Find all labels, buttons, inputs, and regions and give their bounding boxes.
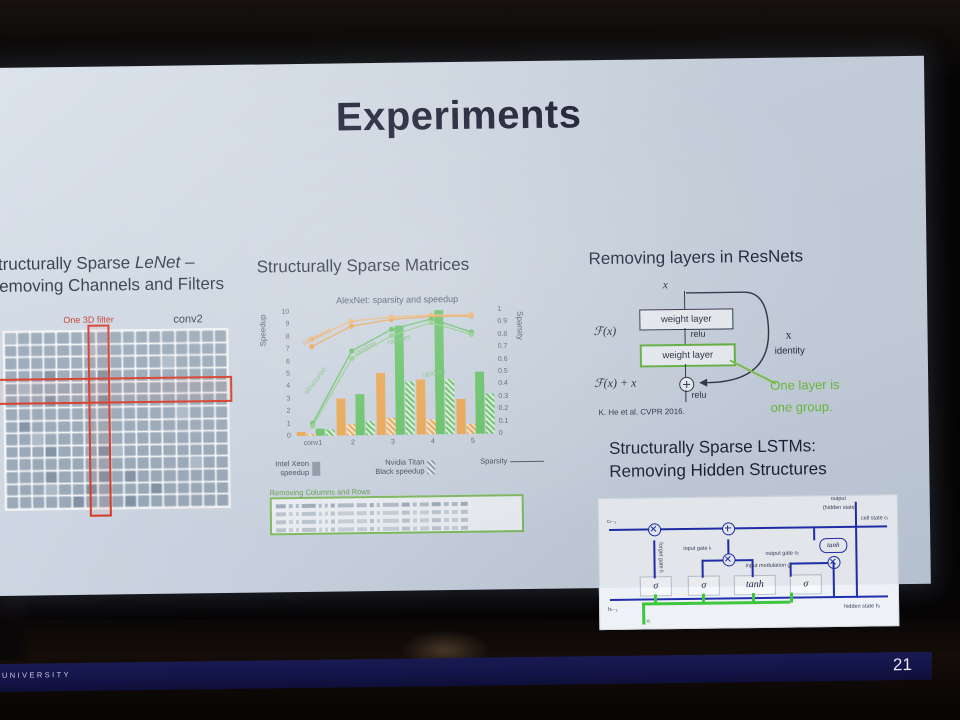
lstm-wire-input-up (701, 560, 703, 578)
filter-cell (138, 483, 150, 495)
resnet-annotation-line1: One layer is (770, 377, 840, 393)
table-cell (452, 501, 458, 505)
legend-label: Nvidia TitanBlack speedup (375, 458, 424, 476)
filter-cell (216, 444, 228, 456)
table-cell (296, 504, 299, 508)
chart-plot-area: structuredrandomstructuredrandomrandom (291, 309, 493, 436)
filter-cell (177, 482, 189, 494)
filter-cell (188, 330, 200, 342)
filter-cell (163, 444, 175, 456)
filter-cell (190, 482, 202, 494)
table-cell (420, 502, 429, 506)
table-cell (461, 509, 468, 513)
filter-cell (216, 431, 228, 443)
table-cell (338, 527, 354, 531)
filter-cell (6, 421, 18, 433)
filter-cell (58, 446, 70, 458)
filter-cell (215, 406, 227, 418)
filter-cell (125, 495, 137, 507)
filter-cell (111, 445, 123, 457)
filter-cell (33, 497, 45, 509)
y2-tick: 0.3 (498, 393, 508, 400)
table-cell (296, 520, 299, 524)
filter-cell (72, 496, 84, 508)
table-cell (377, 510, 380, 514)
filter-cell (137, 432, 149, 444)
sparse-matrix-table (270, 494, 524, 535)
table-cell (331, 519, 335, 523)
y2-tick: 0.6 (498, 355, 508, 362)
filter-cell (137, 470, 149, 482)
y-tick: 10 (281, 309, 289, 316)
lstm-wire-forget-up (653, 540, 656, 578)
table-cell (370, 503, 374, 507)
lstm-input-x-label: xₜ (646, 618, 650, 624)
filter-cell (176, 444, 188, 456)
lstm-heading: Structurally Sparse LSTMs: Removing Hidd… (609, 434, 910, 484)
filter-cell (6, 459, 18, 471)
filter-cell (162, 331, 174, 343)
filter-cell (72, 458, 84, 470)
filter-cell (177, 457, 189, 469)
filter-cell (32, 446, 44, 458)
resnet-arrow-relu2 (685, 390, 687, 402)
filter-cell (44, 345, 56, 357)
filter-cell (164, 495, 176, 507)
lstm-green-highlight-rail (642, 601, 790, 606)
filter-cell (203, 494, 215, 506)
filter-cell (203, 457, 215, 469)
filter-cell (190, 469, 202, 481)
chart-y2-axis-ticks: 00.10.20.30.40.50.60.70.80.91 (497, 309, 523, 435)
filter-cell (32, 408, 44, 420)
resnet-citation: K. He et al. CVPR 2016. (599, 407, 685, 417)
filter-cell (124, 458, 136, 470)
filter-cell (45, 459, 57, 471)
table-cell (296, 528, 299, 532)
table-cell (325, 527, 328, 531)
y2-tick: 0.1 (499, 417, 509, 424)
filter-cell (124, 445, 136, 457)
table-cell (420, 526, 429, 530)
filter-cell (203, 431, 215, 443)
table-cell (452, 525, 458, 529)
filter-cell (71, 408, 83, 420)
filter-cell (190, 444, 202, 456)
lstm-forget-gate-label: forget gate fₜ (657, 542, 663, 573)
filter-cell (151, 470, 163, 482)
filter-cell (175, 343, 187, 355)
lstm-green-connector-1 (654, 594, 657, 604)
left-heading-line1: Structurally Sparse LeNet – (0, 252, 195, 274)
table-cell (331, 503, 335, 507)
filter-cell (164, 470, 176, 482)
table-cell (331, 527, 335, 531)
lstm-output-label-1: output (831, 496, 846, 502)
chart-y-axis-label: Speedup (258, 314, 267, 346)
one-3d-filter-label: One 3D filter (63, 314, 114, 325)
filter-cell (150, 457, 162, 469)
table-cell (325, 503, 328, 507)
legend-label: Intel Xeonspeedup (275, 460, 309, 478)
filter-cell (111, 458, 123, 470)
table-cell (325, 519, 328, 523)
resnet-identity-label: identity (775, 345, 805, 356)
y-tick: 9 (285, 321, 289, 328)
y-tick: 1 (287, 420, 291, 427)
lstm-input-cell-label: cₜ₋₁ (607, 519, 616, 525)
filter-cell (59, 471, 71, 483)
filter-cell (44, 357, 56, 369)
filter-cell (188, 343, 200, 355)
legend-item: Sparsity (480, 457, 544, 466)
table-cell (338, 503, 354, 507)
filter-cell (150, 419, 162, 431)
lstm-multiply-input (722, 553, 735, 566)
alexnet-chart: AlexNet: sparsity and speedup Speedup Sp… (257, 293, 539, 457)
slide-surface: Experiments Structurally Sparse LeNet – … (0, 56, 931, 596)
filter-cell (109, 331, 121, 343)
left-heading-dash: – (180, 252, 194, 271)
filter-cell (137, 445, 149, 457)
filter-cell (32, 433, 44, 445)
filter-cell (162, 356, 174, 368)
filter-cell (70, 344, 82, 356)
lstm-gate-sigma-3: σ (790, 574, 822, 594)
filter-cell (188, 356, 200, 368)
lstm-green-connector-2 (702, 594, 705, 604)
lstm-wire-cell-to-tanh (813, 528, 815, 540)
resnet-fx: ℱ(x) (593, 324, 616, 339)
table-cell (357, 511, 367, 515)
table-cell (444, 518, 449, 522)
filter-cell (70, 357, 82, 369)
chart-legend: Intel XeonspeedupNvidia TitanBlack speed… (265, 453, 535, 483)
y2-tick: 0 (499, 430, 503, 437)
table-cell (383, 502, 399, 506)
filter-cell (163, 406, 175, 418)
resnet-block-diagram: x weight layer relu weight layer relu x … (589, 278, 891, 422)
resnet-fx-plus-x: ℱ(x) + x (594, 376, 636, 392)
filter-cell (18, 333, 30, 345)
filter-cell (19, 408, 31, 420)
table-cell (413, 526, 417, 530)
filter-cell (215, 355, 227, 367)
y2-tick: 0.7 (498, 343, 508, 350)
filter-cell (71, 433, 83, 445)
filter-cell (214, 330, 226, 342)
y2-tick: 0.5 (498, 368, 508, 375)
filter-cell (216, 482, 228, 494)
filter-cell (151, 483, 163, 495)
filter-cell (137, 457, 149, 469)
table-cell (319, 527, 322, 531)
slide-frame: Experiments Structurally Sparse LeNet – … (0, 56, 931, 596)
filter-cell (44, 332, 56, 344)
lstm-green-connector-3 (752, 593, 755, 603)
filter-cell (190, 495, 202, 507)
x-tick: 4 (431, 438, 435, 445)
lstm-candidate-label: input modulation gₜ (746, 563, 793, 570)
filter-cell (164, 482, 176, 494)
y-tick: 8 (286, 333, 290, 340)
table-cell (377, 502, 380, 506)
legend-item: Nvidia TitanBlack speedup (375, 458, 435, 476)
table-cell (383, 510, 399, 514)
filter-cell (45, 446, 57, 458)
table-cell (377, 518, 380, 522)
filter-cell (137, 419, 149, 431)
filter-cell (70, 332, 82, 344)
table-cell (357, 519, 367, 523)
filter-cell (111, 483, 123, 495)
filter-cell (175, 356, 187, 368)
filter-cell (45, 433, 57, 445)
table-cell (276, 512, 286, 516)
y-tick: 5 (286, 371, 290, 378)
lstm-input-gate-label: input gate iₜ (683, 546, 712, 552)
y-tick: 0 (287, 433, 291, 440)
filter-cell (7, 497, 19, 509)
table-cell (370, 519, 374, 523)
filter-cell (5, 358, 17, 370)
filter-cell (72, 471, 84, 483)
lstm-wire-output-down (833, 562, 836, 598)
filter-cell (72, 484, 84, 496)
filter-cell (201, 330, 213, 342)
filter-cell (123, 407, 135, 419)
x-tick: 3 (391, 439, 395, 446)
lstm-cell-state-out-label: cell state cₜ (861, 515, 889, 521)
table-cell (319, 519, 322, 523)
filter-cell (31, 332, 43, 344)
lstm-multiply-forget (648, 523, 661, 536)
table-cell (370, 511, 374, 515)
table-cell (276, 504, 286, 508)
filter-cell (163, 432, 175, 444)
filter-cell (110, 344, 122, 356)
filter-cell (123, 344, 135, 356)
filter-cell (6, 484, 18, 496)
filter-cell (124, 483, 136, 495)
filter-cell (5, 409, 17, 421)
y2-tick: 0.4 (498, 380, 508, 387)
filter-cell (72, 446, 84, 458)
y2-tick: 0.8 (497, 331, 507, 338)
filter-cell (124, 432, 136, 444)
filter-cell (177, 495, 189, 507)
filter-cell (19, 472, 31, 484)
table-cell (402, 526, 410, 530)
table-cell (289, 512, 293, 516)
table-cell (452, 509, 458, 513)
table-cell (276, 520, 286, 524)
table-cell (413, 518, 417, 522)
chart-y-axis-ticks: 012345678910 (271, 312, 291, 438)
table-cell (402, 502, 410, 506)
filter-cell (19, 446, 31, 458)
lstm-cell-diagram: σ σ tanh σ (598, 494, 900, 630)
table-cell (302, 519, 316, 523)
filter-cell (58, 421, 70, 433)
filter-cell (6, 446, 18, 458)
table-cell (319, 511, 322, 515)
legend-label: Sparsity (480, 457, 507, 466)
y-tick: 4 (286, 383, 290, 390)
table-cell (370, 527, 374, 531)
filter-cell (19, 421, 31, 433)
left-column-heading: Structurally Sparse LeNet – Removing Cha… (0, 251, 237, 299)
filter-cell (110, 357, 122, 369)
table-cell (420, 510, 429, 514)
lstm-wire-hidden-up (855, 502, 858, 598)
y2-tick: 0.2 (498, 405, 508, 412)
y-tick: 3 (286, 395, 290, 402)
table-cell (325, 511, 328, 515)
y-tick: 2 (287, 408, 291, 415)
filter-cell (6, 434, 18, 446)
legend-swatch (427, 460, 435, 474)
page-title: Experiments (0, 88, 925, 145)
filter-cell (59, 458, 71, 470)
filter-cell (136, 331, 148, 343)
filter-cell (176, 432, 188, 444)
filter-cell (71, 420, 83, 432)
table-cell (413, 510, 417, 514)
filter-cell (57, 357, 69, 369)
filter-cell (151, 495, 163, 507)
table-cell (302, 511, 316, 515)
table-cell (461, 517, 468, 521)
filter-cell (45, 408, 57, 420)
filter-cell (124, 420, 136, 432)
table-cell (461, 501, 468, 505)
lstm-add-node (722, 522, 735, 535)
table-cell (302, 503, 316, 507)
lstm-output-label-2: (hidden state) (823, 505, 857, 511)
table-cell (338, 511, 354, 515)
filter-cell (203, 444, 215, 456)
filter-cell (58, 433, 70, 445)
legend-swatch (312, 461, 320, 475)
filter-cell (149, 343, 161, 355)
left-heading-line2: Removing Channels and Filters (0, 274, 224, 296)
y-tick: 7 (286, 346, 290, 353)
filter-cell (59, 496, 71, 508)
resnet-identity-x: x (785, 328, 791, 343)
footer-organization: UNIVERSITY (2, 670, 71, 680)
filter-cell (137, 407, 149, 419)
table-cell (357, 527, 367, 531)
filter-cell (214, 343, 226, 355)
filter-cell (46, 471, 58, 483)
x-tick: conv1 (304, 440, 323, 447)
table-cell (420, 518, 429, 522)
center-column-heading: Structurally Sparse Matrices (256, 254, 469, 279)
lstm-tanh-oval: tanh (819, 538, 847, 553)
filter-cell (175, 330, 187, 342)
table-cell (432, 510, 441, 514)
table-cell (402, 518, 410, 522)
legend-swatch (510, 461, 544, 462)
filter-cell (32, 459, 44, 471)
table-cell (432, 526, 441, 530)
filter-cell (150, 407, 162, 419)
filter-cell (57, 332, 69, 344)
filter-column-highlight (87, 324, 112, 516)
table-cell (402, 510, 410, 514)
filter-cell (176, 406, 188, 418)
filter-cell (46, 484, 58, 496)
table-cell (452, 517, 458, 521)
filter-cell (189, 406, 201, 418)
table-cell (444, 502, 449, 506)
filter-cell (111, 420, 123, 432)
filter-cell (123, 356, 135, 368)
filter-cell (124, 470, 136, 482)
table-cell (276, 528, 286, 532)
filter-cell (215, 418, 227, 430)
filter-cell (4, 333, 16, 345)
lstm-heading-line2: Removing Hidden Structures (609, 457, 909, 484)
table-cell (338, 519, 354, 523)
lstm-input-hidden-label: hₜ₋₁ (608, 607, 618, 613)
filter-cell (20, 497, 32, 509)
filter-cell (110, 407, 122, 419)
x-tick: 5 (471, 438, 475, 445)
filter-cell (32, 421, 44, 433)
filter-cell (20, 484, 32, 496)
table-cell (296, 512, 299, 516)
lstm-green-connector-4 (790, 593, 793, 603)
photo-of-projected-slide: Experiments Structurally Sparse LeNet – … (0, 0, 960, 720)
left-heading-italic: LeNet (135, 253, 181, 273)
filter-cell (5, 345, 17, 357)
table-cell (461, 525, 468, 529)
table-cell (413, 502, 417, 506)
y-tick: 6 (286, 358, 290, 365)
filter-cell (149, 331, 161, 343)
filter-cell (6, 472, 18, 484)
filter-cell (111, 470, 123, 482)
table-cell (383, 518, 399, 522)
y2-tick: 0.9 (497, 318, 507, 325)
filter-cell (111, 432, 123, 444)
filter-cell (216, 456, 228, 468)
resnet-relu-2: relu (691, 390, 706, 400)
chart-title: AlexNet: sparsity and speedup (257, 293, 537, 307)
filter-cell (177, 470, 189, 482)
filter-cell (201, 343, 213, 355)
filter-cell (33, 471, 45, 483)
table-cell (289, 520, 293, 524)
filter-cell (164, 457, 176, 469)
filter-cell (203, 469, 215, 481)
table-cell (289, 504, 293, 508)
filter-cell (112, 496, 124, 508)
filter-cell (31, 358, 43, 370)
filter-cell (18, 345, 30, 357)
table-cell (444, 510, 449, 514)
lenet-filter-grid (1, 327, 231, 512)
filter-cell (33, 484, 45, 496)
filter-cell (19, 434, 31, 446)
resnet-annotation-line2: one group. (770, 399, 832, 415)
filter-cell (202, 406, 214, 418)
filter-row-highlight (0, 376, 232, 405)
filter-cell (189, 419, 201, 431)
resnet-input-x: x (663, 279, 668, 291)
